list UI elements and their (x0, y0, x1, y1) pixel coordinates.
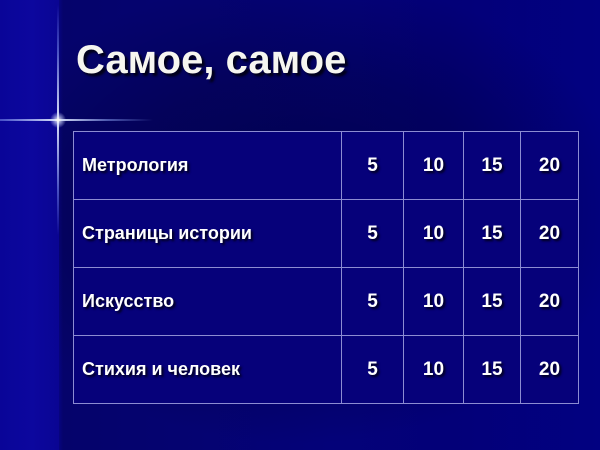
score-cell[interactable]: 10 (404, 200, 464, 268)
score-cell[interactable]: 5 (342, 268, 404, 336)
score-cell[interactable]: 20 (521, 200, 579, 268)
table-row: Стихия и человек 5 10 15 20 (74, 336, 579, 404)
category-label[interactable]: Искусство (74, 268, 342, 336)
presentation-slide: Самое, самое Метрология 5 10 15 20 Стран… (0, 0, 600, 450)
category-label[interactable]: Страницы истории (74, 200, 342, 268)
score-cell[interactable]: 20 (521, 336, 579, 404)
score-cell[interactable]: 15 (464, 268, 521, 336)
score-cell[interactable]: 10 (404, 132, 464, 200)
jeopardy-score-table: Метрология 5 10 15 20 Страницы истории 5… (73, 131, 579, 404)
score-cell[interactable]: 5 (342, 200, 404, 268)
category-label[interactable]: Стихия и человек (74, 336, 342, 404)
category-label[interactable]: Метрология (74, 132, 342, 200)
table-row: Страницы истории 5 10 15 20 (74, 200, 579, 268)
score-cell[interactable]: 10 (404, 336, 464, 404)
left-accent-band (0, 0, 59, 450)
score-cell[interactable]: 15 (464, 200, 521, 268)
table-row: Искусство 5 10 15 20 (74, 268, 579, 336)
score-cell[interactable]: 20 (521, 268, 579, 336)
score-cell[interactable]: 10 (404, 268, 464, 336)
score-cell[interactable]: 5 (342, 336, 404, 404)
slide-title: Самое, самое (76, 38, 346, 83)
score-cell[interactable]: 20 (521, 132, 579, 200)
table-row: Метрология 5 10 15 20 (74, 132, 579, 200)
score-cell[interactable]: 15 (464, 336, 521, 404)
score-cell[interactable]: 15 (464, 132, 521, 200)
score-cell[interactable]: 5 (342, 132, 404, 200)
